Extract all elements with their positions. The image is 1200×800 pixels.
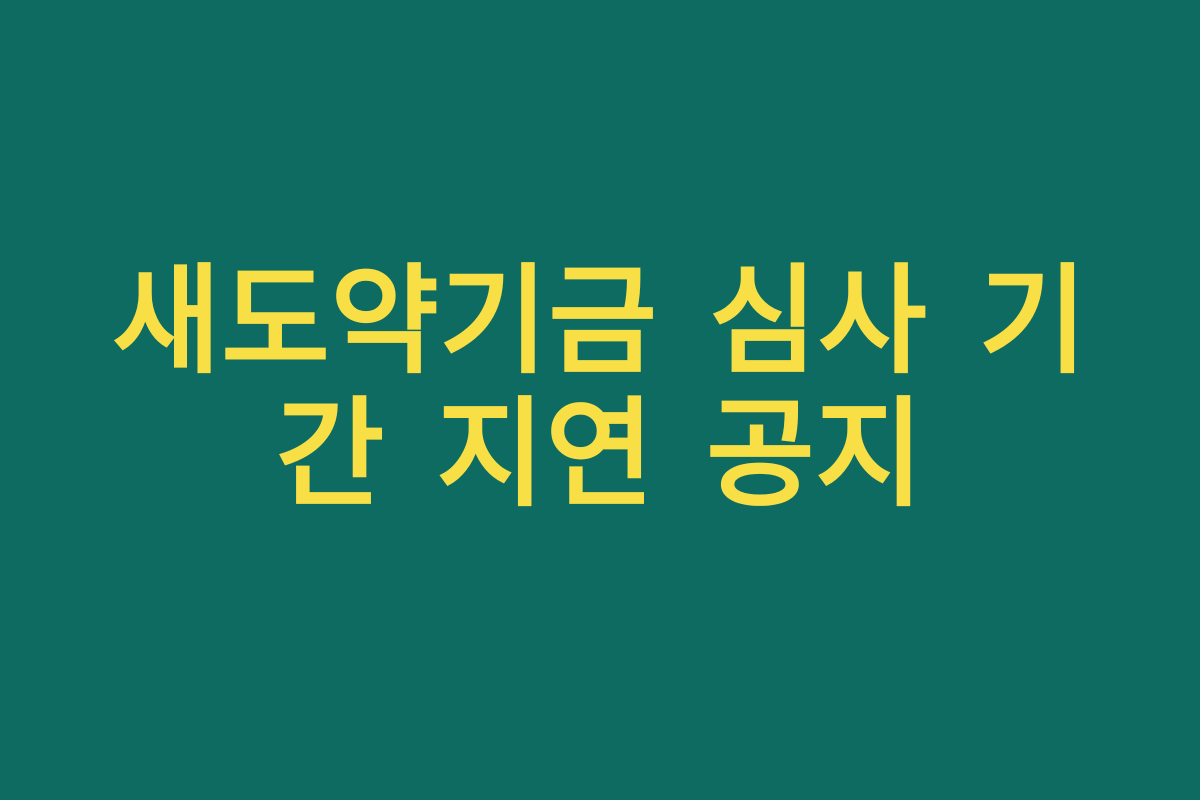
page-title: 새도약기금 심사 기간 지연 공지: [85, 255, 1115, 522]
notice-banner: 새도약기금 심사 기간 지연 공지: [0, 0, 1200, 800]
